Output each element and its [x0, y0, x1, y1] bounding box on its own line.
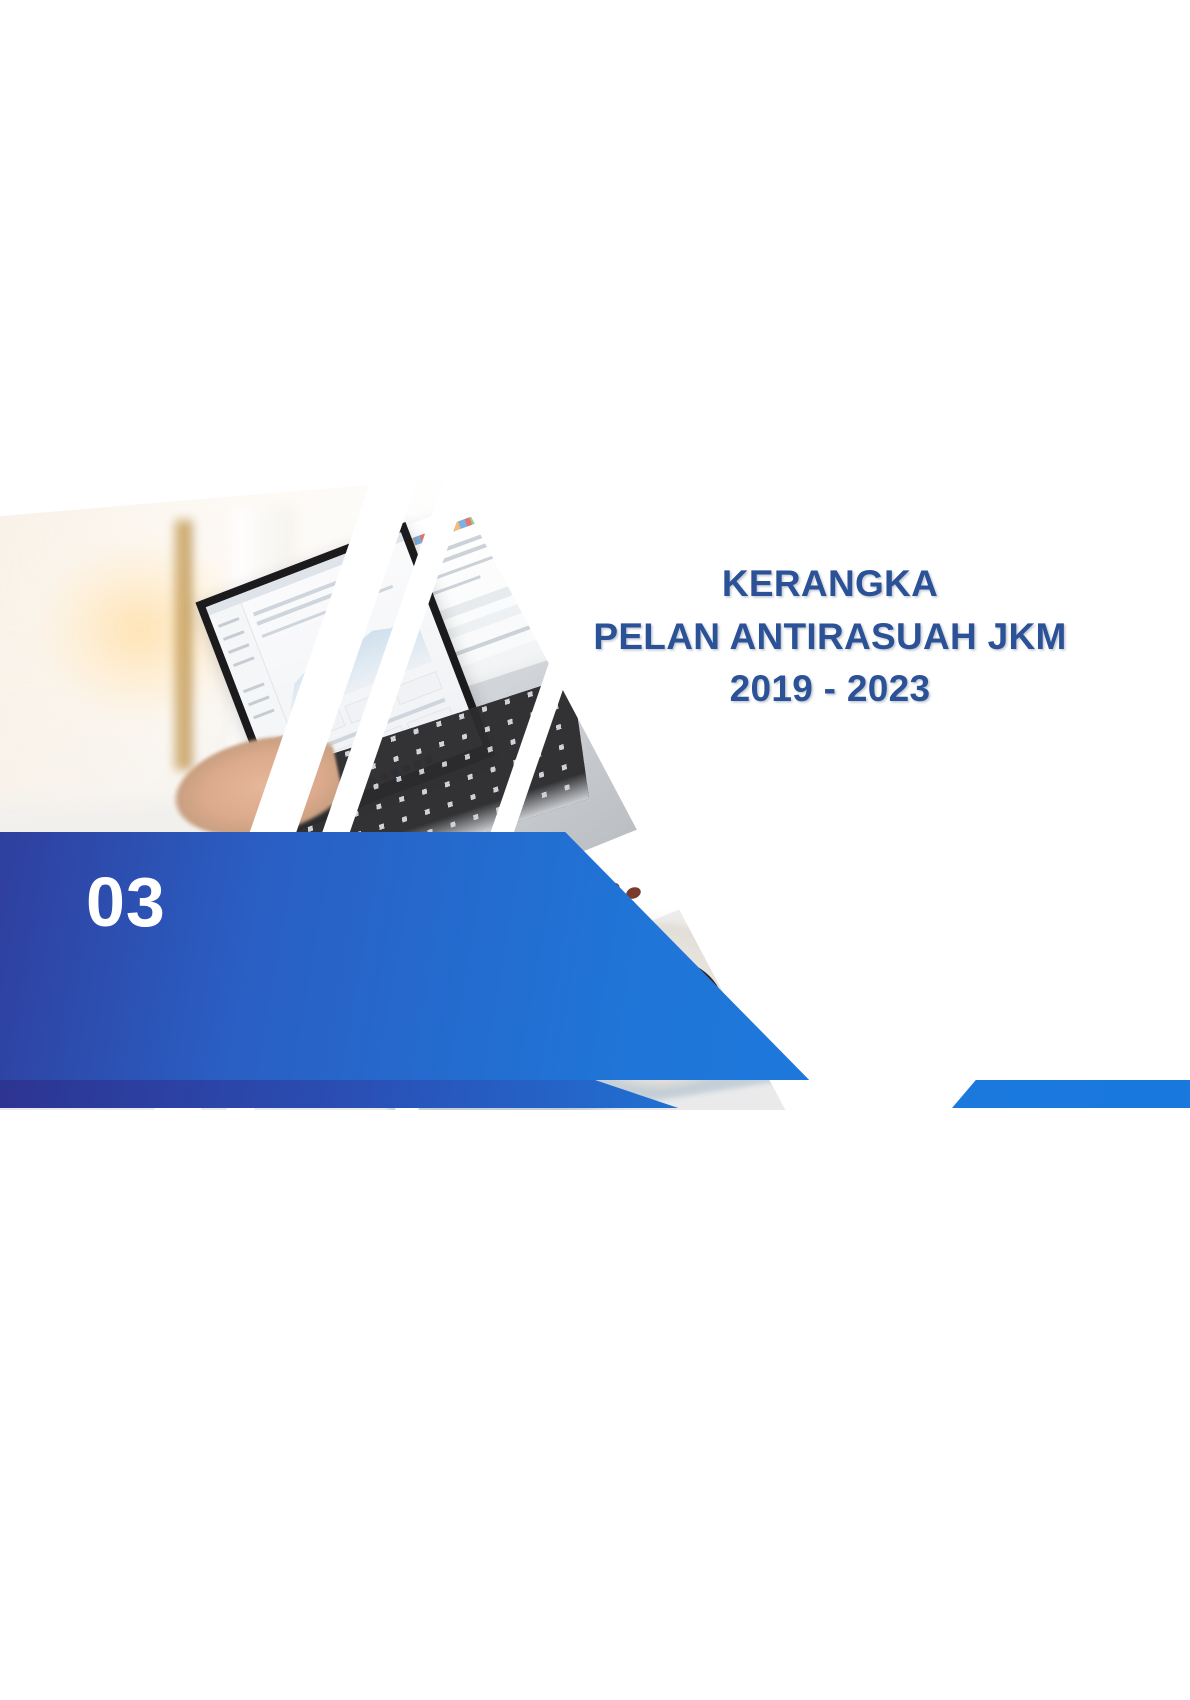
title-line-3: 2019 - 2023	[520, 663, 1140, 716]
wood-rod-blur	[175, 520, 192, 770]
section-number-badge: 03	[86, 867, 166, 937]
title-line-2: PELAN ANTIRASUAH JKM	[520, 611, 1140, 664]
slide-title: KERANGKA PELAN ANTIRASUAH JKM 2019 - 202…	[520, 558, 1140, 716]
presentation-slide: 03 KERANGKA PELAN ANTIRASUAH JKM 2019 - …	[0, 0, 1190, 1700]
title-line-1: KERANGKA	[520, 558, 1140, 611]
